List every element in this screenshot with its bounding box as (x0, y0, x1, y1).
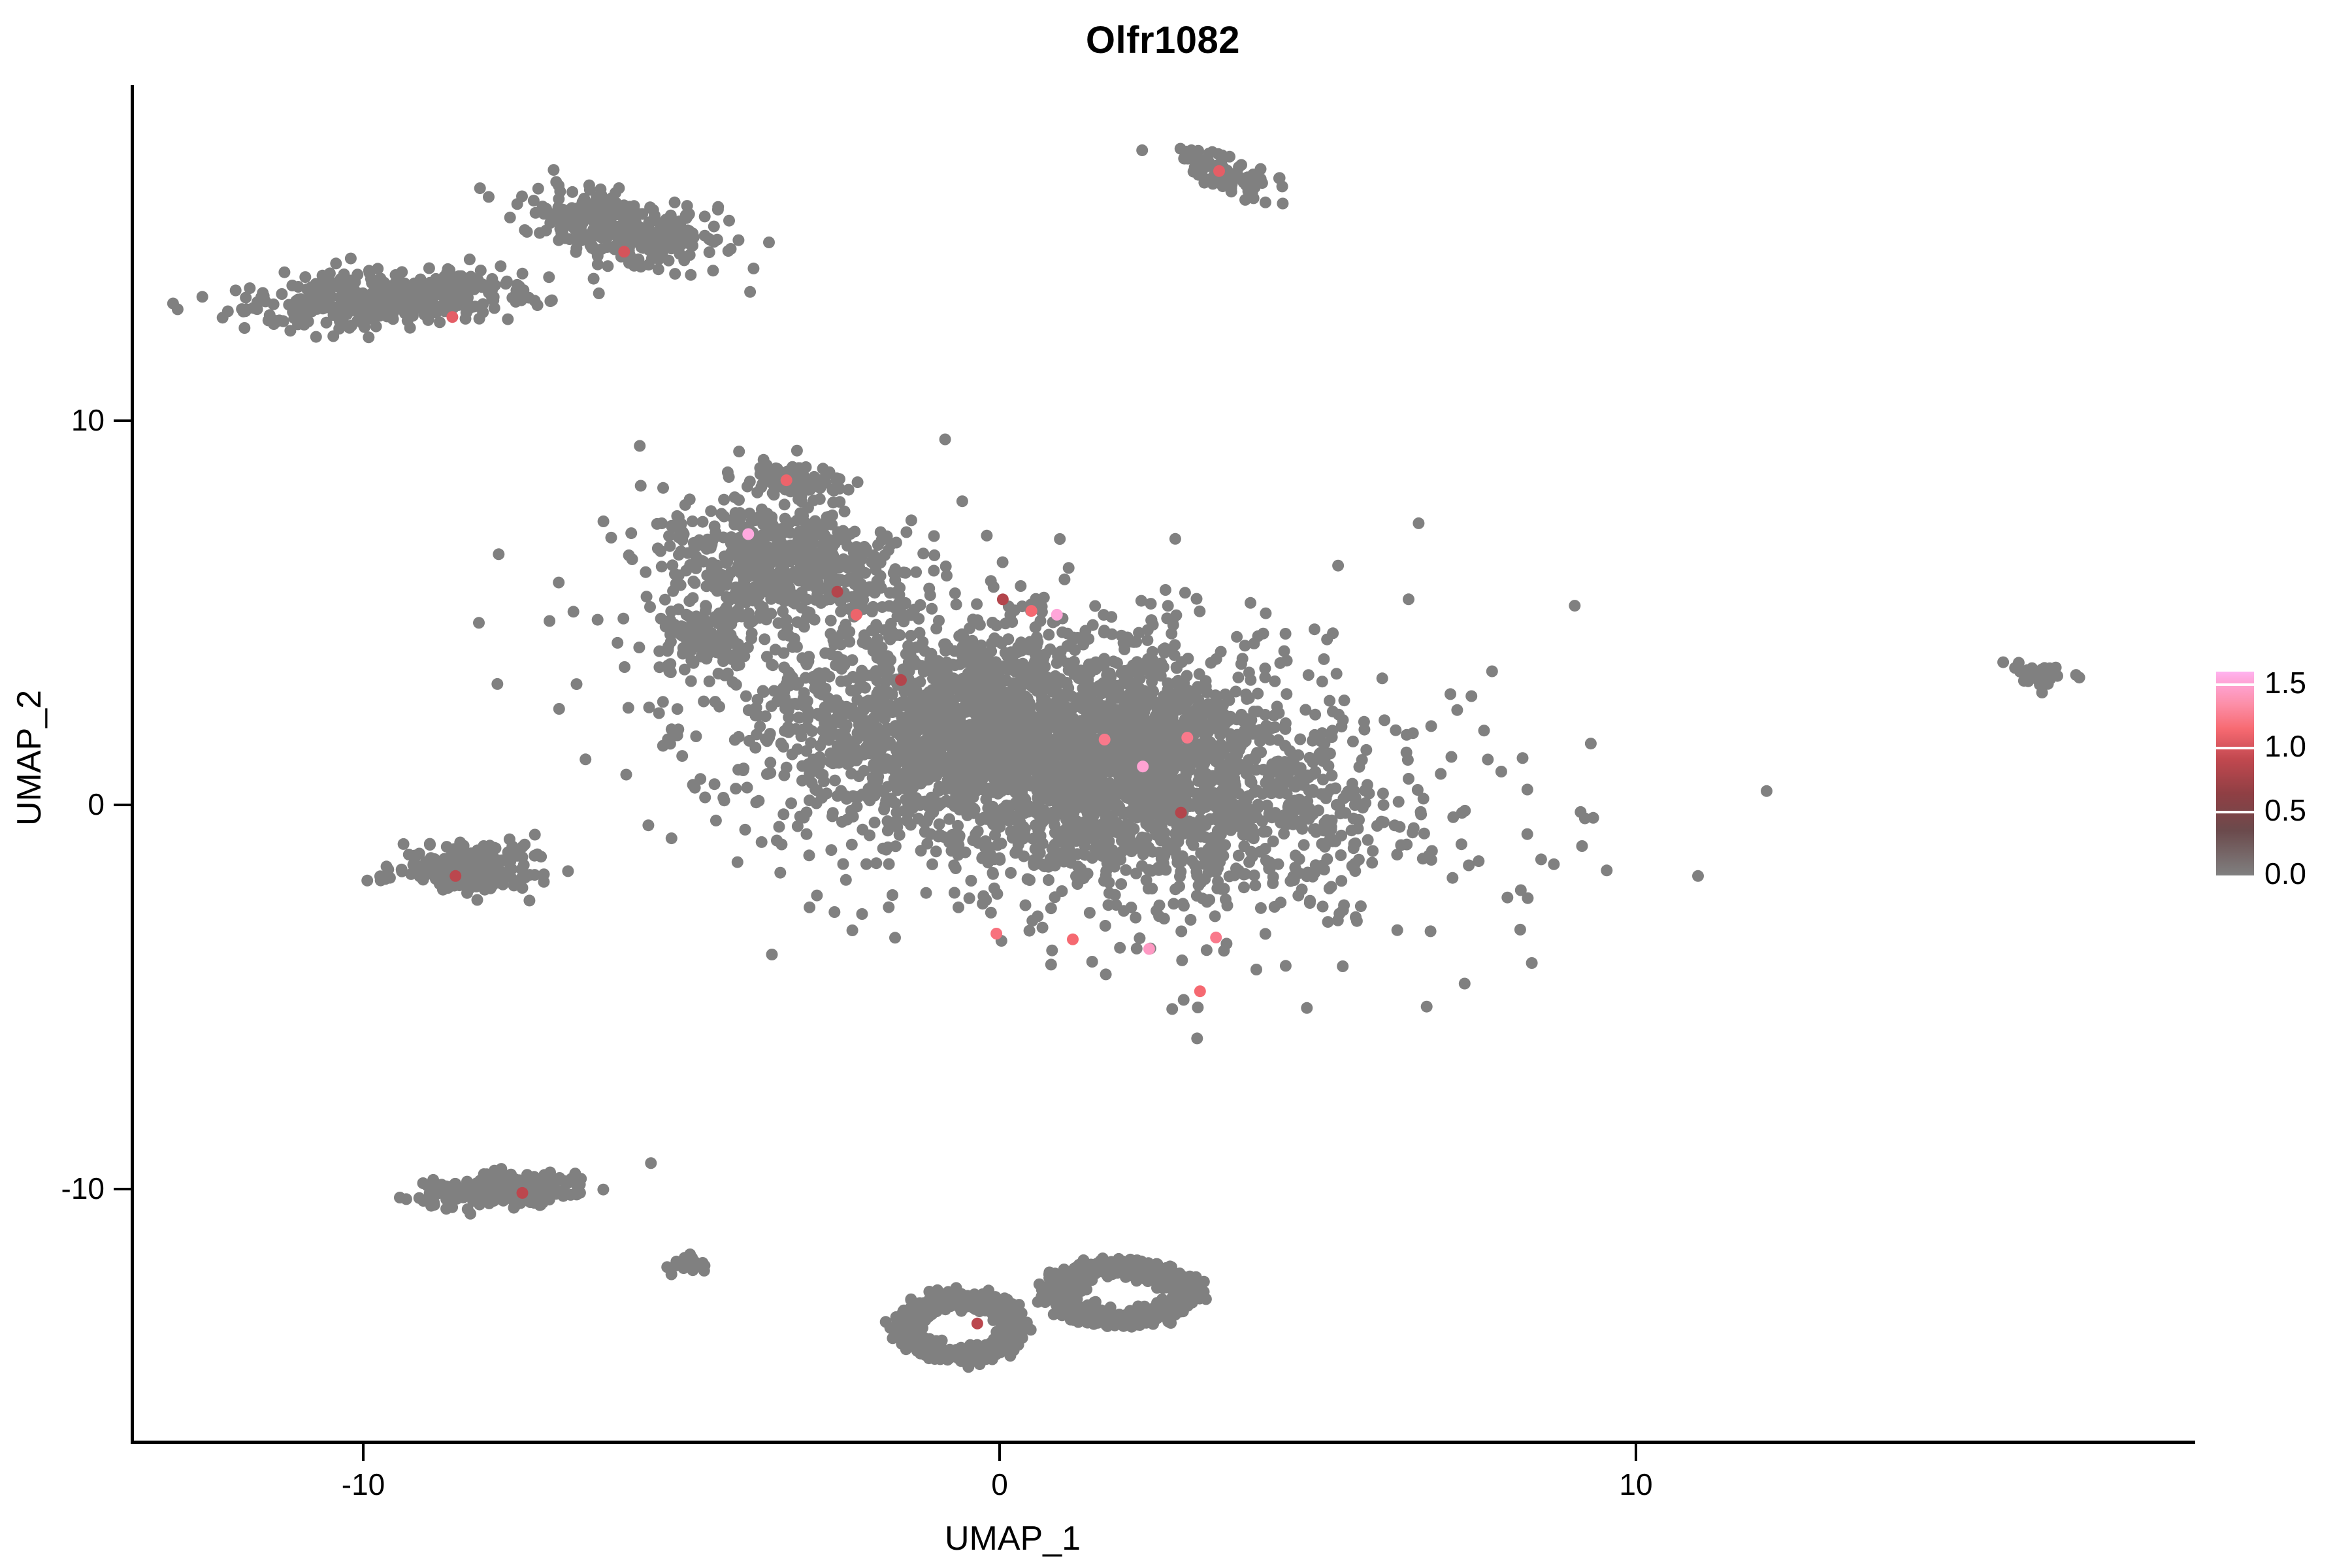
highlighted-points-group (446, 165, 1225, 1330)
umap-feature-plot: Olfr1082 -10010 -10010 UMAP_1 UMAP_2 0.0… (0, 0, 2352, 1568)
legend-tick-label: 1.5 (2264, 665, 2306, 700)
x-tick-mark (1635, 1444, 1637, 1461)
x-tick-label: 10 (1571, 1467, 1701, 1502)
legend-tick-label: 0.0 (2264, 856, 2306, 891)
x-tick-mark (362, 1444, 365, 1461)
scatter-svg (0, 0, 2352, 1568)
x-axis-line (131, 1441, 2195, 1444)
page-title: Olfr1082 (0, 18, 2326, 62)
x-axis-title: UMAP_1 (843, 1519, 1183, 1558)
y-tick-mark (114, 1188, 131, 1190)
y-tick-label: -10 (0, 1171, 105, 1206)
y-tick-mark (114, 804, 131, 806)
legend-tick-mark (2216, 683, 2254, 686)
legend-tick-mark (2216, 747, 2254, 749)
scatter-points-layer (0, 0, 2352, 1568)
x-tick-mark (998, 1444, 1001, 1461)
y-tick-label: 10 (0, 402, 105, 438)
y-axis-title: UMAP_2 (10, 562, 49, 954)
base-points-group (167, 143, 2085, 1373)
x-tick-label: -10 (298, 1467, 429, 1502)
y-tick-mark (114, 419, 131, 422)
legend-tick-label: 1.0 (2264, 728, 2306, 764)
x-tick-label: 0 (934, 1467, 1065, 1502)
color-legend: 0.00.51.01.5 (2216, 668, 2334, 883)
legend-colorbar (2216, 672, 2254, 875)
legend-tick-mark (2216, 811, 2254, 813)
y-axis-line (131, 85, 134, 1441)
plot-panel (131, 85, 2176, 1431)
legend-tick-label: 0.5 (2264, 792, 2306, 828)
